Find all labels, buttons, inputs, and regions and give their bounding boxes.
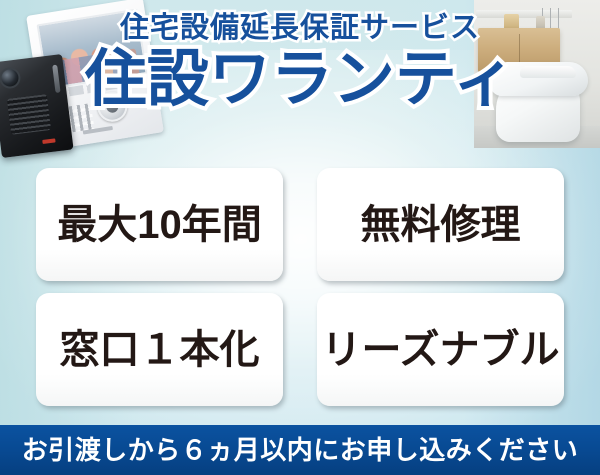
promo-banner: 住宅設備延長保証サービス 住設ワランティ 最大10年間 無料修理 窓口１本化 リ… [0,0,600,475]
feature-card-grid: 最大10年間 無料修理 窓口１本化 リーズナブル [36,168,564,406]
page-title: 住設ワランティ [0,48,600,111]
application-deadline-text: お引渡しから６ヵ月以内にお申し込みください [22,437,579,463]
headline-block: 住宅設備延長保証サービス 住設ワランティ [0,14,600,111]
intercom-call-button [42,138,55,144]
feature-label: 無料修理 [361,205,521,245]
application-deadline-bar: お引渡しから６ヵ月以内にお申し込みください [0,425,600,475]
feature-card-single-contact[interactable]: 窓口１本化 [36,293,283,406]
service-subtitle: 住宅設備延長保証サービス [0,14,600,43]
feature-card-max-years[interactable]: 最大10年間 [36,168,283,281]
feature-label: 窓口１本化 [60,330,260,370]
feature-label: リーズナブル [322,330,560,370]
feature-label: 最大10年間 [57,205,262,245]
feature-card-free-repair[interactable]: 無料修理 [317,168,564,281]
feature-card-reasonable[interactable]: リーズナブル [317,293,564,406]
